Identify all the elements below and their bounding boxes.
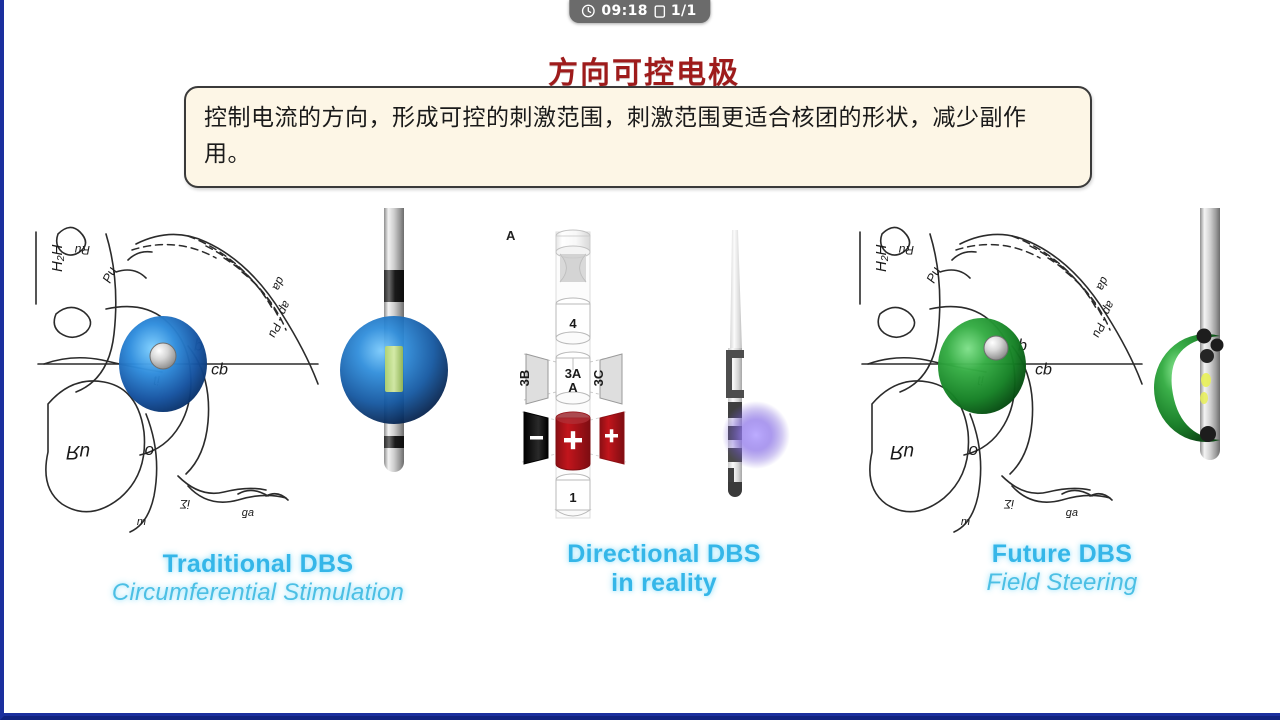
caption-traditional-main: Traditional DBS bbox=[28, 550, 488, 579]
svg-text:Pu: Pu bbox=[266, 321, 285, 340]
svg-text:Ru: Ru bbox=[898, 243, 914, 257]
description-callout-box: 控制电流的方向，形成可控的刺激范围，刺激范围更适合核团的形状，减少副作用。 bbox=[184, 86, 1092, 188]
svg-text:da: da bbox=[270, 275, 288, 293]
svg-text:o: o bbox=[969, 442, 978, 461]
svg-text:iΣ: iΣ bbox=[1003, 497, 1014, 511]
panel-traditional-dbs: Ru H₂H Pu da ap Pu q qɔ iʇ uЯ o iΣ ɯ ɐƃ bbox=[28, 200, 488, 650]
page-icon bbox=[654, 5, 665, 18]
svg-text:ɐƃ: ɐƃ bbox=[242, 507, 254, 519]
svg-text:ɐƃ: ɐƃ bbox=[1066, 507, 1078, 519]
caption-directional-main: Directional DBS bbox=[494, 540, 834, 569]
figure-row: Ru H₂H Pu da ap Pu q qɔ iʇ uЯ o iΣ ɯ ɐƃ bbox=[4, 200, 1280, 650]
panel-directional-dbs: A bbox=[494, 200, 834, 650]
caption-future-main: Future DBS bbox=[852, 540, 1272, 569]
caption-future-dbs: Future DBS Field Steering bbox=[852, 540, 1272, 597]
svg-text:Ru: Ru bbox=[74, 243, 90, 257]
directional-field-illustration bbox=[684, 230, 804, 515]
caption-traditional-sub: Circumferential Stimulation bbox=[28, 579, 488, 607]
svg-text:Pu: Pu bbox=[99, 265, 119, 286]
description-text: 控制电流的方向，形成可控的刺激范围，刺激范围更适合核团的形状，减少副作用。 bbox=[204, 100, 1070, 172]
svg-text:da: da bbox=[1094, 275, 1112, 293]
caption-traditional-dbs: Traditional DBS Circumferential Stimulat… bbox=[28, 550, 488, 607]
clock-time: 09:18 bbox=[601, 2, 648, 20]
caption-directional-sub: in reality bbox=[494, 569, 834, 598]
svg-text:A: A bbox=[568, 380, 578, 395]
svg-text:H₂H: H₂H bbox=[49, 244, 66, 272]
minus-icon bbox=[530, 436, 543, 440]
segment-label-4: 4 bbox=[569, 316, 577, 331]
svg-text:Pu: Pu bbox=[923, 265, 943, 286]
clock-icon bbox=[581, 4, 595, 18]
svg-text:uЯ: uЯ bbox=[890, 441, 914, 462]
slide-frame: 方向可控电极 控制电流的方向，形成可控的刺激范围，刺激范围更适合核团的形状，减少… bbox=[0, 0, 1280, 720]
svg-text:qɔ: qɔ bbox=[1035, 362, 1052, 379]
svg-text:o: o bbox=[145, 442, 154, 461]
page-indicator: 1/1 bbox=[671, 2, 697, 20]
segmented-electrode-diagram: 4 3B 3C 3A bbox=[514, 218, 644, 533]
plus-icon-right bbox=[610, 429, 614, 442]
caption-future-sub: Field Steering bbox=[852, 569, 1272, 597]
svg-text:ap: ap bbox=[276, 299, 294, 317]
svg-text:qɔ: qɔ bbox=[211, 362, 228, 379]
electrode-lead-traditional bbox=[328, 208, 468, 483]
svg-text:iΣ: iΣ bbox=[179, 497, 190, 511]
segment-label-3a: 3A bbox=[565, 366, 582, 381]
plus-icon-center bbox=[571, 431, 575, 449]
brain-atlas-traditional: Ru H₂H Pu da ap Pu q qɔ iʇ uЯ o iΣ ɯ ɐƃ bbox=[28, 214, 328, 534]
segment-label-3c: 3C bbox=[591, 369, 606, 386]
caption-directional-dbs: Directional DBS in reality bbox=[494, 540, 834, 598]
segment-label-1: 1 bbox=[569, 490, 576, 505]
segment-label-3b: 3B bbox=[517, 370, 532, 387]
svg-text:uЯ: uЯ bbox=[66, 441, 90, 462]
electrode-lead-future bbox=[1142, 208, 1272, 483]
svg-text:ɯ: ɯ bbox=[137, 516, 146, 528]
svg-text:Pu: Pu bbox=[1090, 321, 1109, 340]
panel-future-dbs: Ru H₂H Pu da ap Pu q qɔ iʇ uЯ o iΣ ɯ ɐƃ bbox=[852, 200, 1272, 650]
svg-text:ɯ: ɯ bbox=[961, 516, 970, 528]
svg-text:H₂H: H₂H bbox=[873, 244, 890, 272]
player-status-overlay: 09:18 1/1 bbox=[569, 0, 710, 23]
svg-text:ap: ap bbox=[1100, 299, 1118, 317]
brain-atlas-future: Ru H₂H Pu da ap Pu q qɔ iʇ uЯ o iΣ ɯ ɐƃ bbox=[852, 214, 1152, 534]
